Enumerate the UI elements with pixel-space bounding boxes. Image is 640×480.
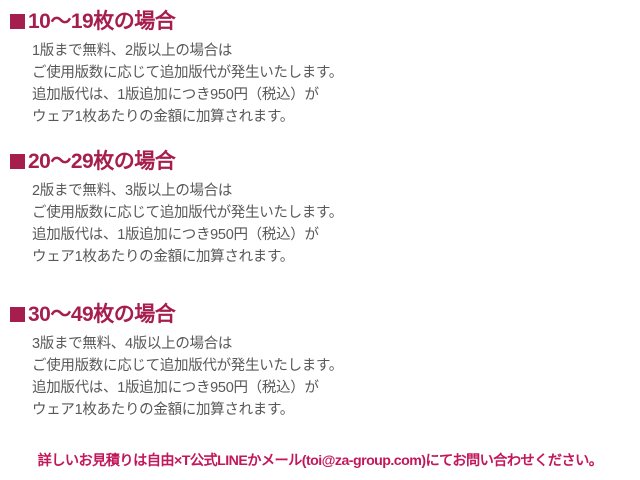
square-bullet-icon: [10, 307, 25, 322]
pricing-block-20-29: 20～29枚の場合 2版まで無料、3版以上の場合は ご使用版数に応じて追加版代が…: [10, 150, 440, 268]
body-line: ウェア1枚あたりの金額に加算されます。: [32, 106, 440, 128]
block-heading-text: 10～19枚の場合: [28, 10, 175, 33]
square-bullet-icon: [10, 154, 25, 169]
body-line: 1版まで無料、2版以上の場合は: [32, 40, 440, 62]
block-heading-text: 20～29枚の場合: [28, 150, 175, 173]
body-line: 3版まで無料、4版以上の場合は: [32, 333, 440, 355]
body-line: 追加版代は、1版追加につき950円（税込）が: [32, 224, 440, 246]
body-line: ご使用版数に応じて追加版代が発生いたします。: [32, 355, 440, 377]
infographic-page: 10～19枚の場合 1版まで無料、2版以上の場合は ご使用版数に応じて追加版代が…: [0, 0, 640, 480]
body-line: ご使用版数に応じて追加版代が発生いたします。: [32, 62, 440, 84]
block-heading: 20～29枚の場合: [10, 150, 440, 173]
body-line: 2版まで無料、3版以上の場合は: [32, 180, 440, 202]
body-line: 追加版代は、1版追加につき950円（税込）が: [32, 377, 440, 399]
design-examples: 1版のデザイン例 JIYU 2版のデザイン例 JIYU: [390, 0, 640, 436]
block-heading: 30～49枚の場合: [10, 303, 440, 326]
pricing-block-30-49: 30～49枚の場合 3版まで無料、4版以上の場合は ご使用版数に応じて追加版代が…: [10, 303, 440, 421]
body-line: ウェア1枚あたりの金額に加算されます。: [32, 399, 440, 421]
footer-bar: 詳しいお見積りは自由×T公式LINEかメール(toi@za-group.com)…: [0, 440, 640, 480]
block-body: 3版まで無料、4版以上の場合は ご使用版数に応じて追加版代が発生いたします。 追…: [32, 333, 440, 421]
pricing-block-10-19: 10～19枚の場合 1版まで無料、2版以上の場合は ご使用版数に応じて追加版代が…: [10, 10, 440, 128]
square-bullet-icon: [10, 14, 25, 29]
body-line: ウェア1枚あたりの金額に加算されます。: [32, 246, 440, 268]
block-body: 2版まで無料、3版以上の場合は ご使用版数に応じて追加版代が発生いたします。 追…: [32, 180, 440, 268]
block-heading-text: 30～49枚の場合: [28, 303, 175, 326]
block-heading: 10～19枚の場合: [10, 10, 440, 33]
footer-contact-text: 詳しいお見積りは自由×T公式LINEかメール(toi@za-group.com)…: [38, 450, 603, 470]
body-line: 追加版代は、1版追加につき950円（税込）が: [32, 84, 440, 106]
block-body: 1版まで無料、2版以上の場合は ご使用版数に応じて追加版代が発生いたします。 追…: [32, 40, 440, 128]
body-line: ご使用版数に応じて追加版代が発生いたします。: [32, 202, 440, 224]
pricing-blocks: 10～19枚の場合 1版まで無料、2版以上の場合は ご使用版数に応じて追加版代が…: [0, 0, 440, 436]
